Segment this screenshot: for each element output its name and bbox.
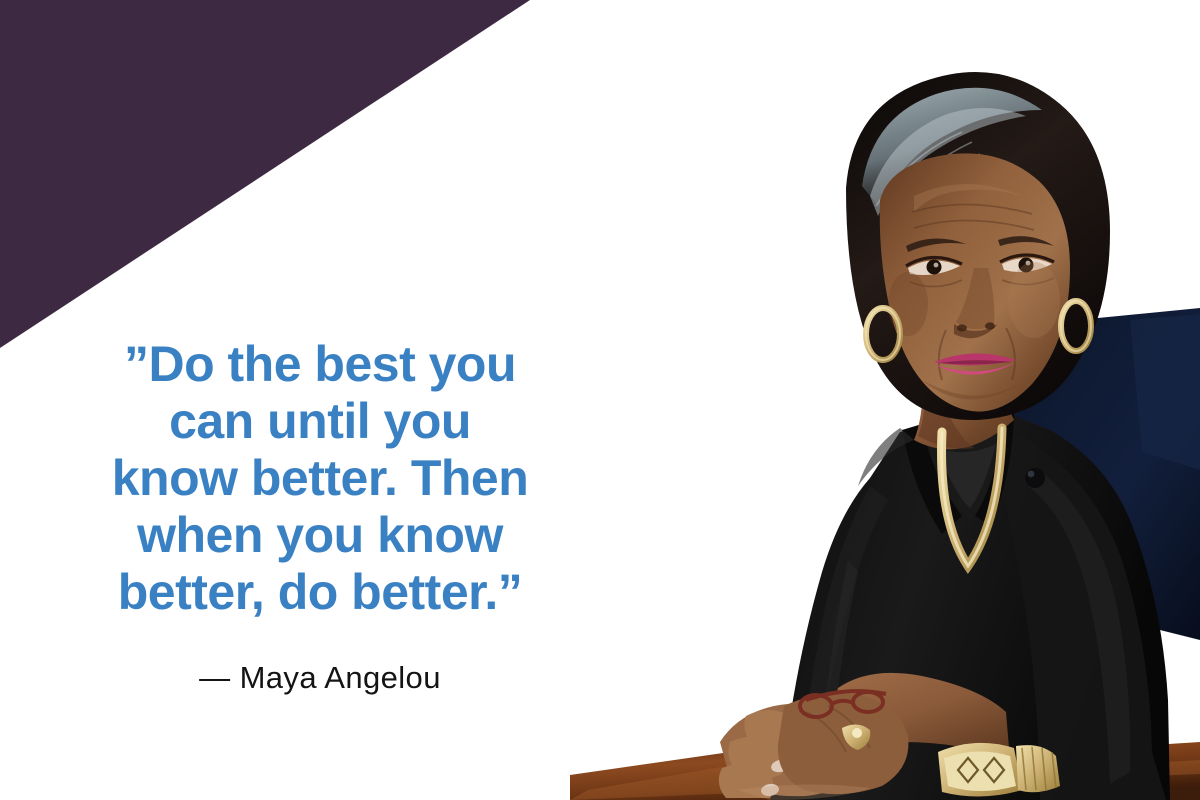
attribution: — Maya Angelou [10, 660, 630, 696]
quote-line-1: ”Do the best you [10, 336, 630, 393]
attribution-label: — Maya Angelou [199, 660, 441, 695]
quote-line-4: when you know [10, 507, 630, 564]
purple-corner-triangle [0, 0, 540, 350]
quote-line-5: better, do better.” [10, 564, 630, 621]
quote-text: ”Do the best you can until you know bett… [10, 336, 630, 621]
quote-line-2: can until you [10, 393, 630, 450]
quote-card: ”Do the best you can until you know bett… [0, 0, 1200, 800]
portrait-photo [570, 0, 1200, 800]
quote-line-3: know better. Then [10, 450, 630, 507]
